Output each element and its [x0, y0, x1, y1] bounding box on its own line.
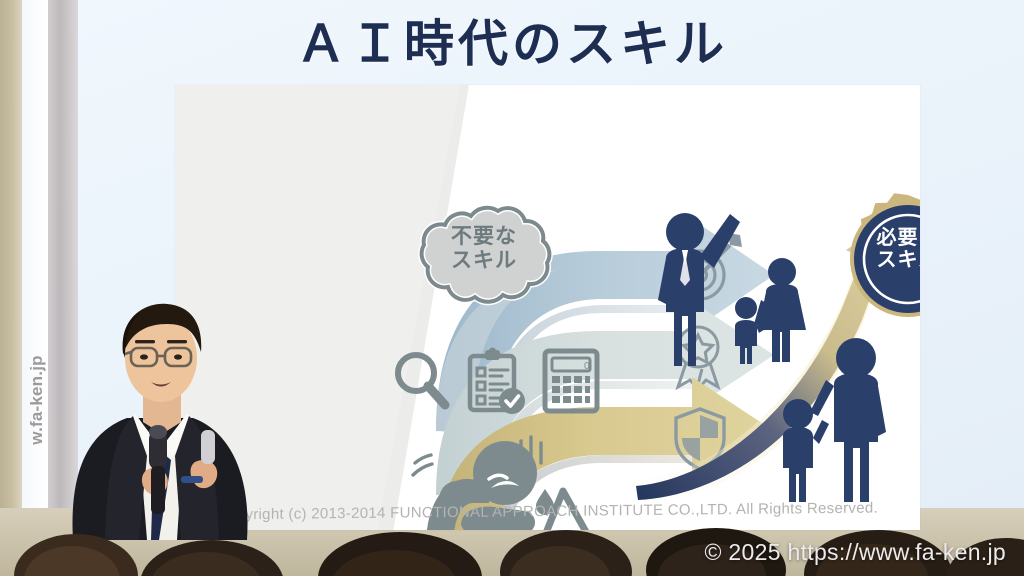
slide-title: ＡＩ時代のスキル — [0, 4, 1024, 76]
right-badge-line1: 必要な — [840, 227, 920, 249]
left-badge-cloud: 不要な スキル — [413, 203, 555, 311]
slide-panel: 不要な スキル — [175, 85, 920, 530]
businessman-raising-hand-figure — [658, 213, 740, 366]
wall-left-strip — [0, 0, 22, 520]
right-badge-line2: スキル — [840, 249, 920, 271]
overlay-watermark: © 2025 https://www.fa-ken.jp — [705, 539, 1007, 566]
side-watermark-text: w.fa-ken.jp — [27, 325, 47, 475]
right-badge-rosette: 必要な スキル — [840, 193, 920, 325]
clipboard-check-icon — [464, 347, 528, 417]
calculator-icon: 0 — [542, 347, 600, 415]
calculator-display: 0 — [584, 361, 590, 372]
lower-child-figure — [783, 399, 829, 502]
right-badge-text: 必要な スキル — [840, 227, 920, 272]
left-badge-line1: 不要な — [413, 225, 555, 249]
woman-with-child-figure — [754, 258, 806, 362]
magnifier-icon — [390, 347, 452, 415]
photo-stage: w.fa-ken.jp ＡＩ時代のスキル — [0, 0, 1024, 576]
obsolete-icons-row: 0 — [390, 347, 600, 419]
left-badge-line2: スキル — [413, 249, 555, 273]
left-badge-text: 不要な スキル — [413, 225, 555, 272]
